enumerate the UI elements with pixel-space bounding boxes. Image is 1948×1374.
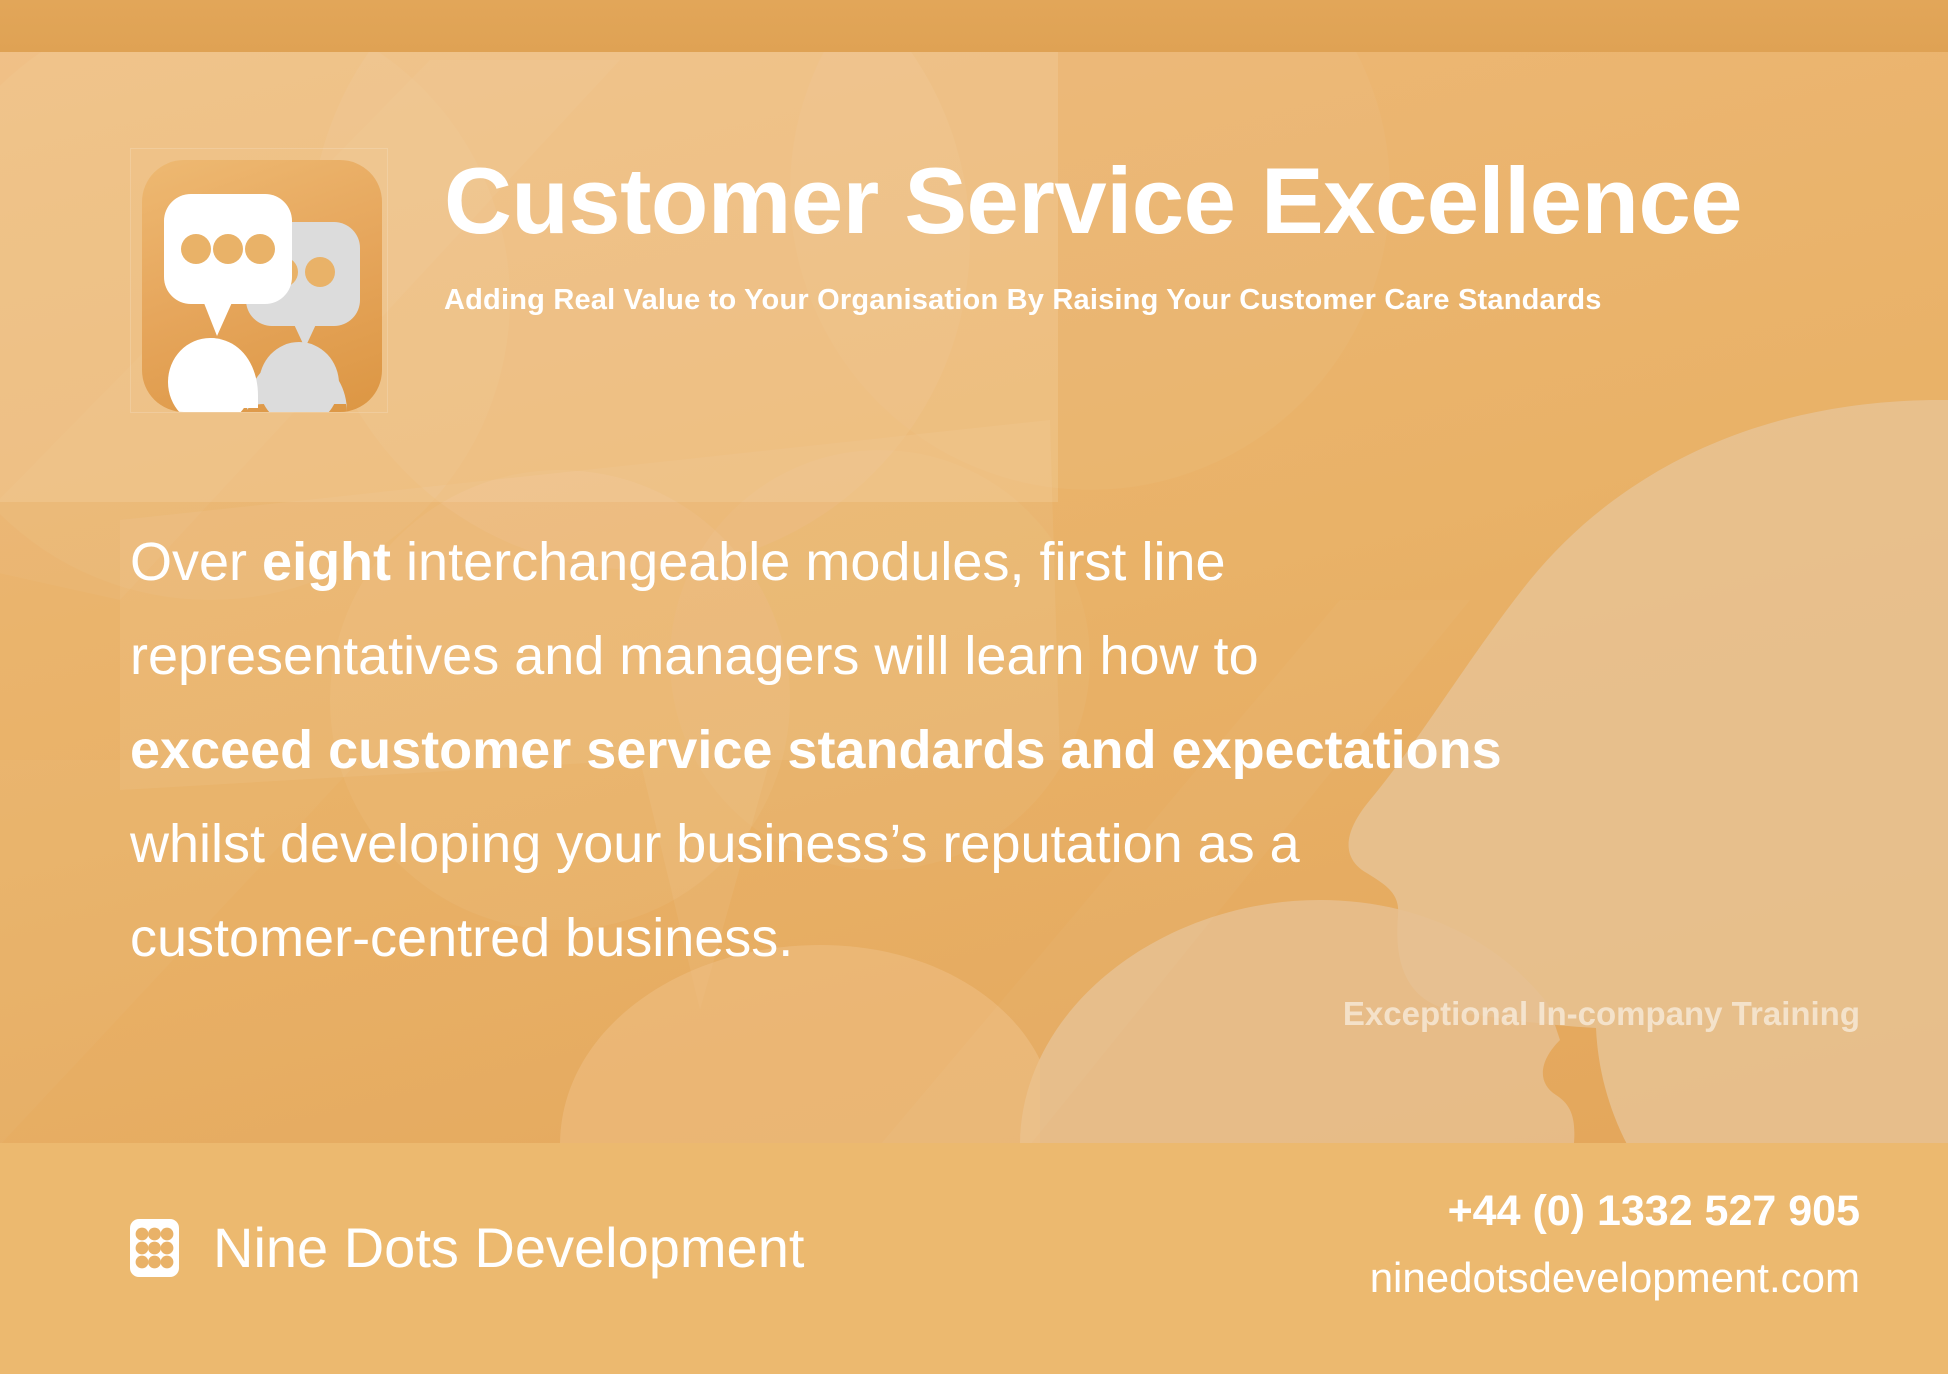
body-copy-text: customer-centred business.: [130, 908, 793, 968]
body-copy-line: representatives and managers will learn …: [130, 609, 1530, 703]
poster-canvas: Customer Service Excellence Adding Real …: [0, 0, 1948, 1374]
body-copy-text: Over: [130, 532, 262, 592]
head-shoulder-white-icon: [208, 338, 258, 408]
icon-tile-surface: [142, 160, 382, 412]
top-accent-band: [0, 0, 1948, 52]
body-copy-line: exceed customer service standards and ex…: [130, 703, 1530, 797]
website-url[interactable]: ninedotsdevelopment.com: [1370, 1254, 1860, 1302]
footer-brand-group: Nine Dots Development: [130, 1215, 804, 1280]
body-copy-text: representatives and managers will learn …: [130, 626, 1259, 686]
body-copy-line: whilst developing your business’s reputa…: [130, 797, 1530, 891]
body-copy-line: customer-centred business.: [130, 891, 1530, 985]
page-title: Customer Service Excellence: [444, 154, 1742, 248]
brand-name: Nine Dots Development: [213, 1215, 804, 1280]
body-copy-line: Over eight interchangeable modules, firs…: [130, 515, 1530, 609]
speech-bubbles-conversation-icon: [142, 160, 382, 412]
body-copy-emphasis: eight: [262, 532, 391, 592]
body-copy-emphasis: exceed customer service standards and ex…: [130, 720, 1502, 780]
head-grey-icon: [259, 342, 339, 412]
nine-dots-grid-logo-icon: [130, 1219, 179, 1277]
body-copy-text: interchangeable modules, first line: [391, 532, 1225, 592]
body-copy-block: Over eight interchangeable modules, firs…: [130, 515, 1530, 985]
footer-contact-group: +44 (0) 1332 527 905 ninedotsdevelopment…: [1370, 1187, 1860, 1302]
header-row: Customer Service Excellence Adding Real …: [130, 148, 1742, 413]
course-icon-tile: [130, 148, 388, 413]
body-copy-text: whilst developing your business’s reputa…: [130, 814, 1300, 874]
tagline-text: Exceptional In-company Training: [1343, 995, 1860, 1033]
phone-number[interactable]: +44 (0) 1332 527 905: [1370, 1187, 1860, 1236]
page-subtitle: Adding Real Value to Your Organisation B…: [444, 284, 1742, 317]
header-text-block: Customer Service Excellence Adding Real …: [444, 148, 1742, 317]
